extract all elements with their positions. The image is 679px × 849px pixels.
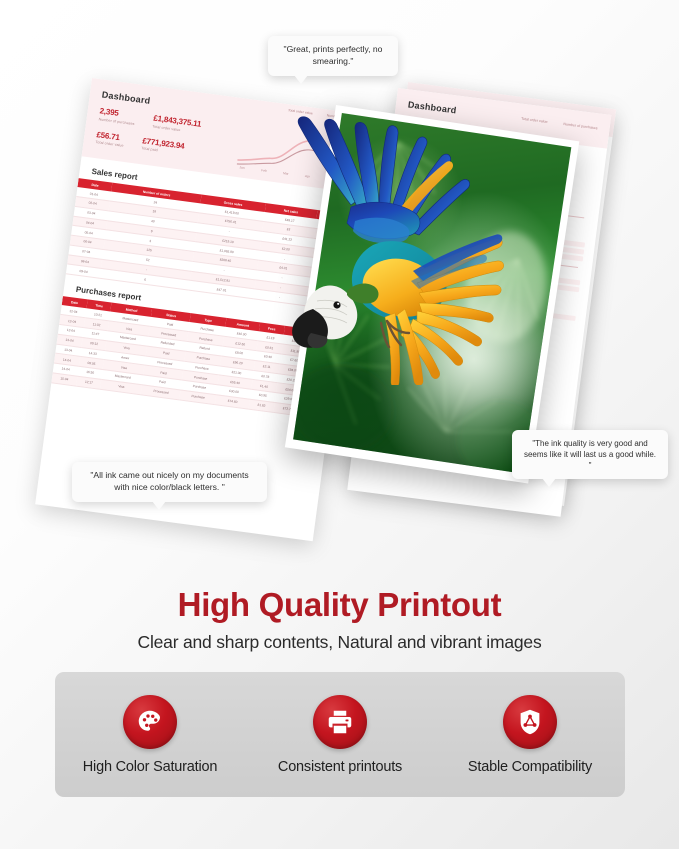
feature-label: Consistent printouts: [278, 759, 402, 775]
jungle-foliage: [293, 113, 571, 474]
chart-label-order-value: Total order value: [521, 117, 548, 124]
kpi-card: £56.71 Total order value: [95, 130, 125, 148]
feature-consistent-printouts: Consistent printouts: [246, 695, 434, 775]
feature-label: Stable Compatibility: [468, 759, 592, 775]
axis-tick: Feb: [261, 168, 267, 173]
page-subtitle: Clear and sharp contents, Natural and vi…: [0, 632, 679, 653]
axis-tick: Jan: [239, 165, 245, 170]
shield-icon-badge: [503, 695, 557, 749]
palette-icon: [135, 707, 165, 737]
testimonial-bubble-top: "Great, prints perfectly, no smearing.": [268, 36, 398, 76]
feature-label: High Color Saturation: [83, 759, 217, 775]
palette-icon-badge: [123, 695, 177, 749]
axis-tick: Apr: [305, 174, 311, 179]
chart-label-purchases: Number of purchases: [563, 122, 598, 130]
table-cell: £1.82: [249, 399, 275, 412]
testimonial-bubble-right: "The ink quality is very good and seems …: [512, 430, 668, 479]
shield-icon: [515, 707, 545, 737]
dashboard-title-back-1: Dashboard: [407, 99, 457, 115]
photo-image: [293, 113, 571, 474]
testimonial-bubble-left: "All ink came out nicely on my documents…: [72, 462, 267, 502]
table-cell: 15-04: [51, 373, 77, 386]
feature-high-color-saturation: High Color Saturation: [56, 695, 244, 775]
feature-bar: High Color Saturation Consistent printou…: [55, 672, 625, 797]
kpi-card: £771,923.94 Total paid: [141, 136, 185, 156]
poster-canvas: Dashboard Dashboard Total order value Nu…: [0, 0, 679, 849]
table-cell: 12:17: [76, 376, 102, 389]
printer-icon-badge: [313, 695, 367, 749]
kpi-card: 2,395 Number of purchases: [98, 106, 136, 125]
photo-print: [285, 105, 579, 484]
axis-tick: Mar: [283, 171, 290, 176]
printer-icon: [325, 707, 355, 737]
feature-stable-compatibility: Stable Compatibility: [436, 695, 624, 775]
page-title: High Quality Printout: [0, 586, 679, 624]
kpi-card: £1,843,375.11 Total order value: [152, 114, 202, 135]
